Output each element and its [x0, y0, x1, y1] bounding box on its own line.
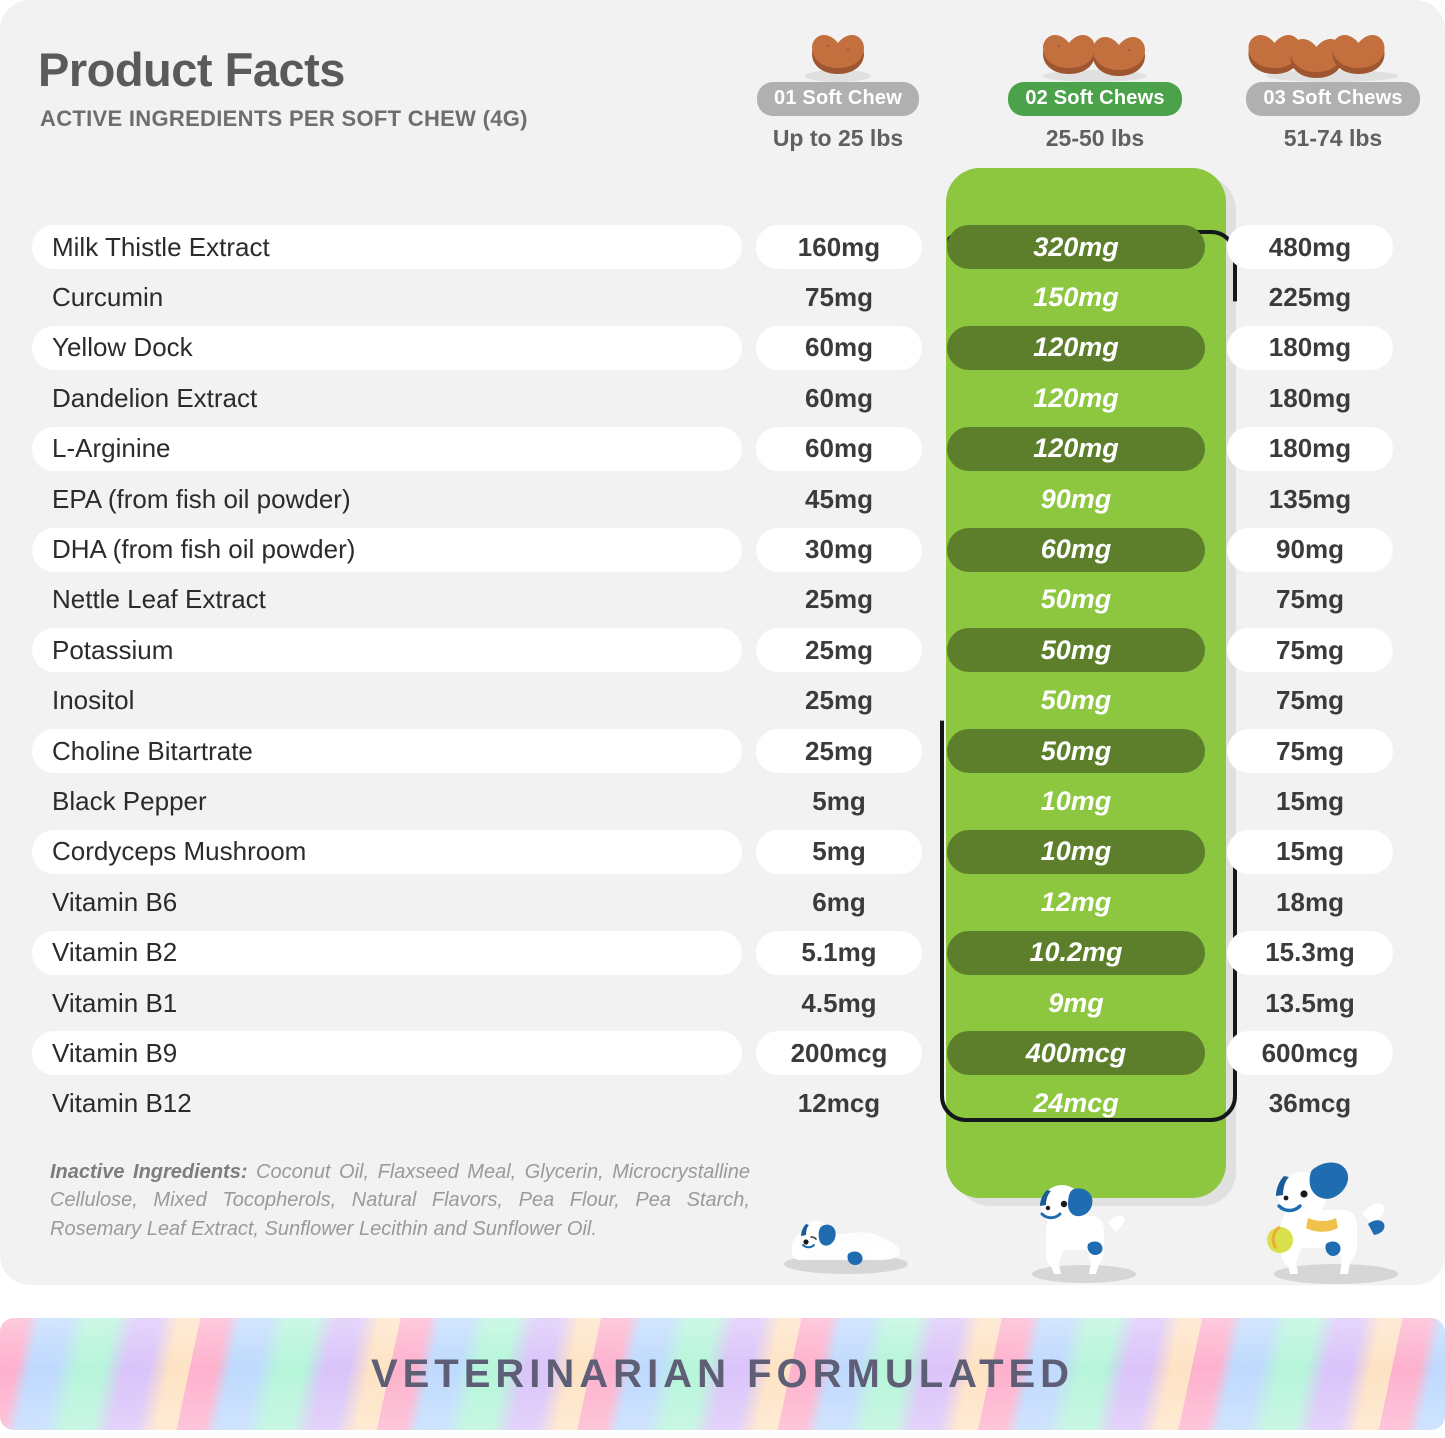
dose-value-3: 225mg — [1227, 276, 1393, 320]
dose-value-1: 5.1mg — [756, 931, 922, 975]
dose-column-header-1: 01 Soft Chew Up to 25 lbs — [738, 20, 938, 152]
dose-value-2: 120mg — [947, 326, 1205, 370]
dose-value-1: 4.5mg — [756, 981, 922, 1025]
table-row: Vitamin B25.1mg10.2mg15.3mg — [0, 927, 1445, 977]
dose-value-2: 50mg — [947, 578, 1205, 622]
inactive-ingredients-label: Inactive Ingredients: — [50, 1161, 247, 1183]
dose-value-1: 12mcg — [756, 1082, 922, 1126]
soft-chew-heart-icon — [1233, 20, 1433, 82]
page-title: Product Facts — [38, 42, 345, 97]
dose-value-3: 15mg — [1227, 830, 1393, 874]
dose-value-2: 90mg — [947, 477, 1205, 521]
ingredient-name: Vitamin B6 — [32, 880, 742, 924]
dose-value-2: 10mg — [947, 779, 1205, 823]
dose-value-3: 75mg — [1227, 729, 1393, 773]
table-row: DHA (from fish oil powder)30mg60mg90mg — [0, 524, 1445, 574]
ingredient-name: Black Pepper — [32, 779, 742, 823]
table-row: Inositol25mg50mg75mg — [0, 676, 1445, 726]
dose-value-2: 50mg — [947, 729, 1205, 773]
dose-value-2: 24mcg — [947, 1082, 1205, 1126]
ingredient-name: Vitamin B2 — [32, 931, 742, 975]
table-row: Black Pepper5mg10mg15mg — [0, 776, 1445, 826]
dose-value-1: 160mg — [756, 225, 922, 269]
dose-value-1: 200mcg — [756, 1031, 922, 1075]
page-subtitle: ACTIVE INGREDIENTS PER SOFT CHEW (4G) — [40, 106, 528, 132]
dose-value-1: 25mg — [756, 679, 922, 723]
dose-badge-2: 02 Soft Chews — [1008, 82, 1181, 116]
dose-value-2: 10mg — [947, 830, 1205, 874]
ingredient-name: EPA (from fish oil powder) — [32, 477, 742, 521]
ingredient-name: Vitamin B9 — [32, 1031, 742, 1075]
dog-running-icon — [1250, 1152, 1415, 1285]
ingredient-name: Vitamin B12 — [32, 1082, 742, 1126]
table-row: Dandelion Extract60mg120mg180mg — [0, 373, 1445, 423]
ingredient-name: Choline Bitartrate — [32, 729, 742, 773]
dose-badge-1: 01 Soft Chew — [757, 82, 919, 116]
ingredient-name: Milk Thistle Extract — [32, 225, 742, 269]
table-row: Vitamin B9200mcg400mcg600mcg — [0, 1028, 1445, 1078]
dose-badge-3: 03 Soft Chews — [1246, 82, 1419, 116]
dose-value-2: 320mg — [947, 225, 1205, 269]
table-row: L-Arginine60mg120mg180mg — [0, 424, 1445, 474]
ingredient-name: Cordyceps Mushroom — [32, 830, 742, 874]
dose-value-2: 12mg — [947, 880, 1205, 924]
inactive-ingredients: Inactive Ingredients: Coconut Oil, Flaxs… — [50, 1158, 750, 1243]
dose-value-3: 36mcg — [1227, 1082, 1393, 1126]
veterinarian-formulated-banner: VETERINARIAN FORMULATED — [0, 1318, 1445, 1430]
table-row: Potassium25mg50mg75mg — [0, 625, 1445, 675]
table-row: Curcumin75mg150mg225mg — [0, 272, 1445, 322]
dog-lying-icon — [770, 1198, 920, 1281]
dose-value-3: 180mg — [1227, 376, 1393, 420]
table-row: Milk Thistle Extract160mg320mg480mg — [0, 222, 1445, 272]
dose-value-3: 75mg — [1227, 578, 1393, 622]
ingredient-name: Nettle Leaf Extract — [32, 578, 742, 622]
table-row: Vitamin B1212mcg24mcg36mcg — [0, 1079, 1445, 1129]
table-row: Nettle Leaf Extract25mg50mg75mg — [0, 575, 1445, 625]
table-row: Yellow Dock60mg120mg180mg — [0, 323, 1445, 373]
dose-value-1: 45mg — [756, 477, 922, 521]
ingredient-name: Dandelion Extract — [32, 376, 742, 420]
dose-value-1: 5mg — [756, 779, 922, 823]
table-row: Choline Bitartrate25mg50mg75mg — [0, 726, 1445, 776]
dose-value-3: 180mg — [1227, 326, 1393, 370]
dose-value-3: 600mcg — [1227, 1031, 1393, 1075]
dose-value-3: 15.3mg — [1227, 931, 1393, 975]
table-row: EPA (from fish oil powder)45mg90mg135mg — [0, 474, 1445, 524]
dog-walking-icon — [1022, 1168, 1152, 1285]
dose-value-1: 25mg — [756, 578, 922, 622]
dose-weight-3: 51-74 lbs — [1233, 125, 1433, 152]
dose-value-3: 15mg — [1227, 779, 1393, 823]
dose-value-3: 75mg — [1227, 628, 1393, 672]
dose-value-3: 18mg — [1227, 880, 1393, 924]
dose-value-2: 50mg — [947, 628, 1205, 672]
dose-value-2: 120mg — [947, 376, 1205, 420]
dose-value-2: 50mg — [947, 679, 1205, 723]
ingredient-name: Yellow Dock — [32, 326, 742, 370]
dose-value-1: 30mg — [756, 528, 922, 572]
soft-chew-heart-icon — [738, 20, 938, 82]
table-row: Cordyceps Mushroom5mg10mg15mg — [0, 827, 1445, 877]
dose-value-2: 400mcg — [947, 1031, 1205, 1075]
dose-value-1: 60mg — [756, 326, 922, 370]
table-row: Vitamin B14.5mg9mg13.5mg — [0, 978, 1445, 1028]
dose-value-2: 10.2mg — [947, 931, 1205, 975]
product-facts-card: Product Facts ACTIVE INGREDIENTS PER SOF… — [0, 0, 1445, 1285]
dose-value-2: 60mg — [947, 528, 1205, 572]
dose-column-header-2: 02 Soft Chews 25-50 lbs — [995, 20, 1195, 152]
dose-column-header-3: 03 Soft Chews 51-74 lbs — [1233, 20, 1433, 152]
dose-value-3: 90mg — [1227, 528, 1393, 572]
dose-value-1: 5mg — [756, 830, 922, 874]
dose-value-1: 25mg — [756, 628, 922, 672]
soft-chew-heart-icon — [995, 20, 1195, 82]
dose-value-2: 120mg — [947, 427, 1205, 471]
table-row: Vitamin B66mg12mg18mg — [0, 877, 1445, 927]
dose-value-2: 9mg — [947, 981, 1205, 1025]
dose-value-1: 60mg — [756, 427, 922, 471]
ingredient-name: Curcumin — [32, 276, 742, 320]
ingredient-name: Inositol — [32, 679, 742, 723]
dose-value-3: 75mg — [1227, 679, 1393, 723]
dose-weight-1: Up to 25 lbs — [738, 125, 938, 152]
ingredient-name: Vitamin B1 — [32, 981, 742, 1025]
dose-value-1: 6mg — [756, 880, 922, 924]
ingredient-name: DHA (from fish oil powder) — [32, 528, 742, 572]
ingredient-name: L-Arginine — [32, 427, 742, 471]
dose-value-1: 25mg — [756, 729, 922, 773]
ingredient-name: Potassium — [32, 628, 742, 672]
product-facts-infographic: Product Facts ACTIVE INGREDIENTS PER SOF… — [0, 0, 1445, 1438]
dose-value-3: 480mg — [1227, 225, 1393, 269]
banner-text: VETERINARIAN FORMULATED — [371, 1352, 1074, 1397]
ingredients-table: Milk Thistle Extract160mg320mg480mgCurcu… — [0, 222, 1445, 1129]
dose-value-1: 60mg — [756, 376, 922, 420]
dose-weight-2: 25-50 lbs — [995, 125, 1195, 152]
dose-value-1: 75mg — [756, 276, 922, 320]
dose-value-3: 135mg — [1227, 477, 1393, 521]
dose-value-2: 150mg — [947, 276, 1205, 320]
dose-value-3: 13.5mg — [1227, 981, 1393, 1025]
dose-value-3: 180mg — [1227, 427, 1393, 471]
